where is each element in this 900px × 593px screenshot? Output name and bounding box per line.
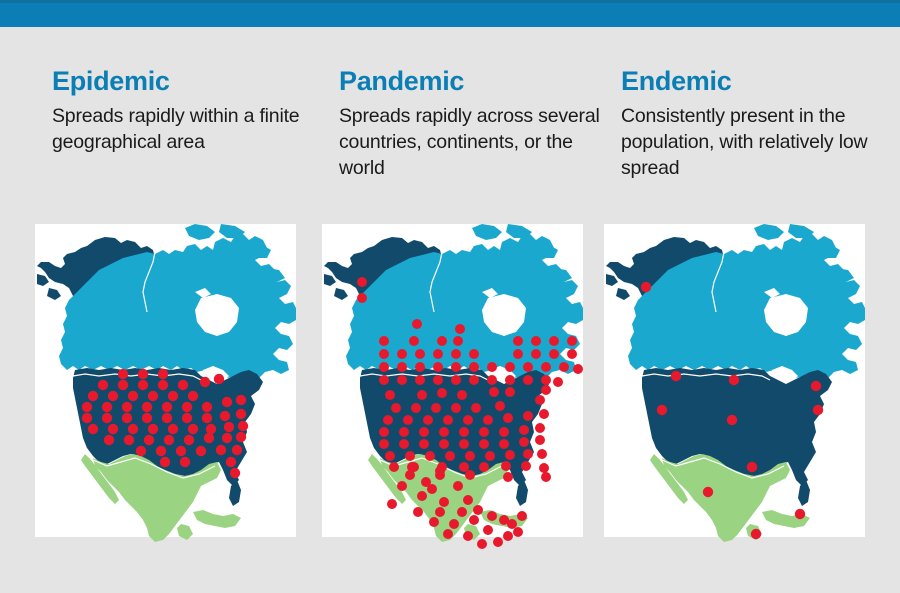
infection-dot bbox=[148, 424, 158, 434]
infection-dot bbox=[200, 377, 210, 387]
infection-dot bbox=[531, 336, 541, 346]
infection-dot bbox=[108, 391, 118, 401]
infection-dot bbox=[236, 432, 246, 442]
infection-dot bbox=[387, 499, 397, 509]
infection-dot bbox=[523, 362, 533, 372]
infection-dot bbox=[451, 362, 461, 372]
infection-dot bbox=[443, 529, 453, 539]
infection-dot bbox=[479, 427, 489, 437]
infection-dot bbox=[503, 472, 513, 482]
infection-dot bbox=[513, 349, 523, 359]
panel-heading-endemic: Endemic bbox=[621, 66, 731, 97]
infection-dot bbox=[573, 364, 583, 374]
infection-dot bbox=[204, 433, 214, 443]
infection-dot bbox=[82, 402, 92, 412]
infection-dot bbox=[483, 525, 493, 535]
infection-dot bbox=[473, 505, 483, 515]
infection-dot bbox=[415, 375, 425, 385]
infection-dot bbox=[158, 369, 168, 379]
infection-dot bbox=[226, 457, 236, 467]
infection-dot bbox=[463, 415, 473, 425]
infection-dot bbox=[224, 422, 234, 432]
infection-dot bbox=[671, 371, 681, 381]
infection-dot bbox=[407, 462, 417, 472]
infection-dot bbox=[385, 451, 395, 461]
infection-dot bbox=[182, 402, 192, 412]
infection-dot bbox=[531, 349, 541, 359]
infection-dot bbox=[379, 375, 389, 385]
infection-dot bbox=[499, 427, 509, 437]
infection-dot bbox=[399, 439, 409, 449]
infection-dot bbox=[379, 336, 389, 346]
infection-dot bbox=[178, 380, 188, 390]
infection-dot bbox=[537, 449, 547, 459]
infection-dot bbox=[469, 349, 479, 359]
infection-dot bbox=[459, 439, 469, 449]
infection-dot bbox=[415, 349, 425, 359]
infection-dot bbox=[453, 336, 463, 346]
infection-dot bbox=[523, 449, 533, 459]
map-epidemic bbox=[35, 224, 296, 564]
infection-dot bbox=[118, 369, 128, 379]
infection-dot bbox=[503, 531, 513, 541]
infection-dot bbox=[379, 427, 389, 437]
infection-dot bbox=[523, 411, 533, 421]
infection-dot bbox=[142, 413, 152, 423]
infection-dot bbox=[513, 336, 523, 346]
infection-dot bbox=[403, 415, 413, 425]
infection-dot bbox=[411, 403, 421, 413]
infection-dot bbox=[485, 451, 495, 461]
panel-endemic: Endemic Consistently present in the popu… bbox=[604, 27, 892, 593]
infection-dot bbox=[471, 403, 481, 413]
infection-dot bbox=[156, 446, 166, 456]
map-endemic bbox=[604, 224, 865, 564]
infection-dot bbox=[160, 457, 170, 467]
infection-dot bbox=[168, 424, 178, 434]
panel-heading-pandemic: Pandemic bbox=[339, 66, 464, 97]
infection-dot bbox=[417, 491, 427, 501]
infection-dot bbox=[465, 451, 475, 461]
infection-dot bbox=[142, 402, 152, 412]
infection-dot bbox=[412, 319, 422, 329]
infection-dot bbox=[457, 507, 467, 517]
infection-dot bbox=[455, 324, 465, 334]
infection-dot bbox=[148, 391, 158, 401]
infection-dot bbox=[433, 362, 443, 372]
infection-dot bbox=[238, 421, 248, 431]
infection-dot bbox=[188, 424, 198, 434]
infection-dot bbox=[451, 403, 461, 413]
infection-dot bbox=[437, 336, 447, 346]
infection-dot bbox=[437, 388, 447, 398]
infection-dot bbox=[397, 481, 407, 491]
infection-dot bbox=[397, 349, 407, 359]
infection-dot bbox=[439, 497, 449, 507]
infection-dot bbox=[657, 405, 667, 415]
infection-dot bbox=[487, 511, 497, 521]
infection-dot bbox=[495, 401, 505, 411]
infection-dot bbox=[493, 537, 503, 547]
infection-dot bbox=[220, 411, 230, 421]
infection-dot bbox=[703, 487, 713, 497]
infection-dot bbox=[184, 435, 194, 445]
infection-dot bbox=[567, 349, 577, 359]
infection-dot bbox=[405, 451, 415, 461]
infection-dot bbox=[214, 374, 224, 384]
panel-epidemic: Epidemic Spreads rapidly within a finite… bbox=[35, 27, 323, 593]
infection-dot bbox=[409, 336, 419, 346]
infection-dot bbox=[451, 375, 461, 385]
infection-dot bbox=[541, 385, 551, 395]
infection-dot bbox=[230, 468, 240, 478]
infection-dot bbox=[539, 463, 549, 473]
infection-dot bbox=[124, 435, 134, 445]
infection-dot bbox=[435, 507, 445, 517]
infection-dot bbox=[182, 413, 192, 423]
infection-dot bbox=[236, 409, 246, 419]
infection-dot bbox=[429, 517, 439, 527]
infection-dot bbox=[202, 402, 212, 412]
infection-dot bbox=[102, 413, 112, 423]
infection-dot bbox=[423, 415, 433, 425]
infection-dot bbox=[202, 413, 212, 423]
infection-dot bbox=[413, 507, 423, 517]
infection-dot bbox=[535, 435, 545, 445]
infection-dot bbox=[813, 405, 823, 415]
infection-dot bbox=[503, 413, 513, 423]
infection-dot bbox=[483, 415, 493, 425]
infection-dot bbox=[379, 362, 389, 372]
infection-dot bbox=[108, 424, 118, 434]
infection-dot bbox=[535, 395, 545, 405]
infection-dot bbox=[729, 375, 739, 385]
infection-dot bbox=[399, 427, 409, 437]
infection-dot bbox=[196, 446, 206, 456]
infection-dot bbox=[88, 424, 98, 434]
infection-dot bbox=[795, 509, 805, 519]
infection-dot bbox=[104, 435, 114, 445]
infection-dot bbox=[445, 451, 455, 461]
infection-dot bbox=[505, 450, 515, 460]
infection-dot bbox=[489, 387, 499, 397]
infection-dot bbox=[535, 423, 545, 433]
infection-dot bbox=[180, 457, 190, 467]
infection-dot bbox=[138, 380, 148, 390]
infection-dot bbox=[521, 461, 531, 471]
infection-dot bbox=[541, 362, 551, 372]
infection-dot bbox=[469, 515, 479, 525]
map-pandemic bbox=[322, 224, 583, 564]
infection-dot bbox=[391, 403, 401, 413]
infection-dot bbox=[523, 375, 533, 385]
infection-dot bbox=[505, 387, 515, 397]
infection-dot bbox=[505, 362, 515, 372]
infection-dot bbox=[459, 427, 469, 437]
infection-dot bbox=[641, 282, 651, 292]
infection-dot bbox=[168, 391, 178, 401]
infection-dot bbox=[236, 395, 246, 405]
infection-dot bbox=[567, 336, 577, 346]
infection-dot bbox=[206, 424, 216, 434]
infection-dot bbox=[431, 403, 441, 413]
infection-dot bbox=[449, 519, 459, 529]
infection-dot bbox=[232, 445, 242, 455]
infection-dot bbox=[397, 375, 407, 385]
infection-dot bbox=[499, 439, 509, 449]
infection-dot bbox=[158, 380, 168, 390]
infection-dot bbox=[162, 413, 172, 423]
panel-description-pandemic: Spreads rapidly across several countries… bbox=[339, 103, 601, 181]
infection-dot bbox=[128, 391, 138, 401]
infection-dot bbox=[397, 362, 407, 372]
panel-description-endemic: Consistently present in the population, … bbox=[621, 103, 883, 181]
infection-dot bbox=[379, 349, 389, 359]
infection-dot bbox=[415, 362, 425, 372]
infection-dot bbox=[176, 446, 186, 456]
infection-dot bbox=[513, 527, 523, 537]
infection-dot bbox=[539, 409, 549, 419]
infection-dot bbox=[222, 433, 232, 443]
infection-dot bbox=[383, 415, 393, 425]
panels-container: Epidemic Spreads rapidly within a finite… bbox=[0, 27, 900, 593]
infection-dot bbox=[433, 375, 443, 385]
infection-dot bbox=[102, 402, 112, 412]
infection-dot bbox=[479, 439, 489, 449]
infection-dot bbox=[451, 349, 461, 359]
infection-dot bbox=[541, 472, 551, 482]
infection-dot bbox=[439, 439, 449, 449]
infection-dot bbox=[88, 391, 98, 401]
infection-dot bbox=[136, 446, 146, 456]
infection-dot bbox=[469, 362, 479, 372]
infection-dot bbox=[453, 481, 463, 491]
panel-pandemic: Pandemic Spreads rapidly across several … bbox=[322, 27, 610, 593]
infection-dot bbox=[419, 439, 429, 449]
infection-dot bbox=[389, 462, 399, 472]
infection-dot bbox=[188, 391, 198, 401]
infection-dot bbox=[459, 462, 469, 472]
infection-dot bbox=[379, 439, 389, 449]
infection-dot bbox=[463, 531, 473, 541]
infection-dot bbox=[443, 415, 453, 425]
infection-dot bbox=[98, 380, 108, 390]
infection-dot bbox=[162, 402, 172, 412]
infection-dot bbox=[465, 470, 475, 480]
infection-dot bbox=[122, 402, 132, 412]
infection-dot bbox=[469, 375, 479, 385]
top-accent-bar bbox=[0, 0, 900, 27]
infection-dot bbox=[519, 425, 529, 435]
infection-dot bbox=[517, 511, 527, 521]
infection-dot bbox=[216, 445, 226, 455]
infection-dot bbox=[385, 390, 395, 400]
infection-dot bbox=[164, 435, 174, 445]
infection-dot bbox=[138, 369, 148, 379]
infection-dot bbox=[549, 349, 559, 359]
infection-dot bbox=[421, 477, 431, 487]
infection-dot bbox=[457, 390, 467, 400]
infection-dot bbox=[727, 415, 737, 425]
infection-dot bbox=[439, 427, 449, 437]
infection-dot bbox=[501, 461, 511, 471]
panel-heading-epidemic: Epidemic bbox=[52, 66, 170, 97]
infection-dot bbox=[549, 336, 559, 346]
infection-dot bbox=[553, 377, 563, 387]
infection-dot bbox=[222, 397, 232, 407]
infection-dot bbox=[144, 435, 154, 445]
panel-description-epidemic: Spreads rapidly within a finite geograph… bbox=[52, 103, 314, 155]
infection-dot bbox=[433, 349, 443, 359]
infection-dot bbox=[487, 375, 497, 385]
infection-dot bbox=[82, 413, 92, 423]
infection-dot bbox=[811, 381, 821, 391]
infection-dot bbox=[357, 277, 367, 287]
infection-dot bbox=[417, 390, 427, 400]
infection-dot bbox=[747, 462, 757, 472]
infection-dot bbox=[751, 529, 761, 539]
infection-dot bbox=[505, 375, 515, 385]
infection-dot bbox=[118, 380, 128, 390]
infection-dot bbox=[357, 293, 367, 303]
infection-dot bbox=[122, 413, 132, 423]
infection-dot bbox=[519, 437, 529, 447]
infection-dot bbox=[435, 466, 445, 476]
infection-dot bbox=[541, 375, 551, 385]
infection-dot bbox=[499, 515, 509, 525]
infection-dot bbox=[128, 424, 138, 434]
infection-dot bbox=[559, 362, 569, 372]
infection-dot bbox=[425, 451, 435, 461]
infection-dot bbox=[487, 362, 497, 372]
infection-dot bbox=[479, 462, 489, 472]
infection-dot bbox=[477, 539, 487, 549]
infection-dot bbox=[419, 427, 429, 437]
infection-dot bbox=[463, 495, 473, 505]
